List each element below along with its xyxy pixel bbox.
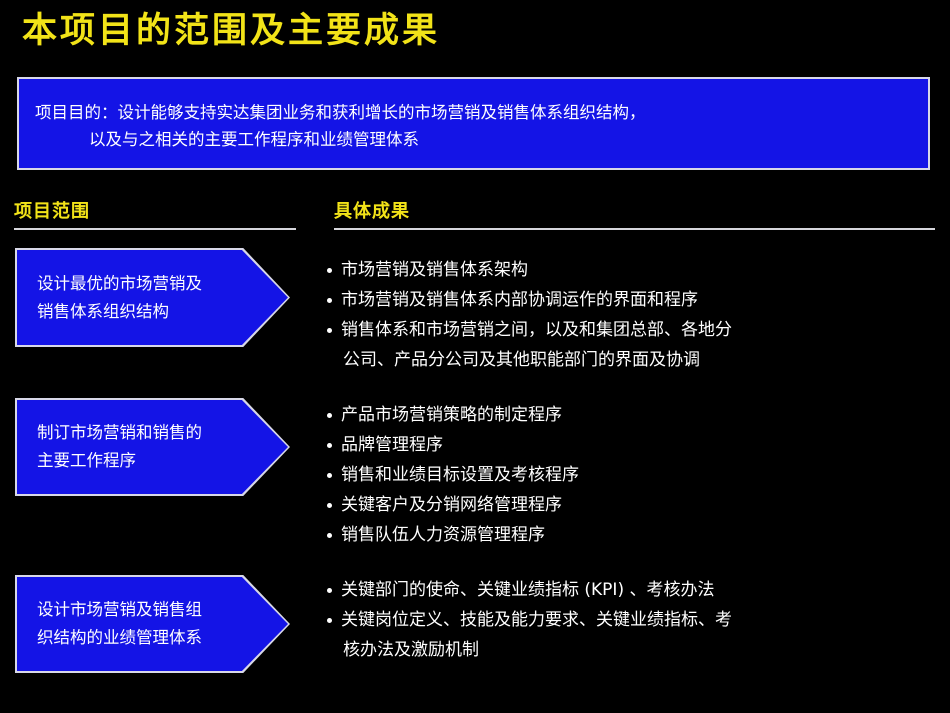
column-rule-left	[14, 228, 296, 230]
scope-arrow-3: 设计市场营销及销售组 织结构的业绩管理体系	[15, 575, 290, 673]
list-item: 关键岗位定义、技能及能力要求、关键业绩指标、考 核办法及激励机制	[325, 605, 937, 665]
scope-arrow-1-line-2: 销售体系组织结构	[37, 298, 247, 326]
outcome-text: 销售和业绩目标设置及考核程序	[341, 465, 579, 485]
outcome-text: 产品市场营销策略的制定程序	[341, 405, 562, 425]
scope-arrow-1: 设计最优的市场营销及 销售体系组织结构	[15, 248, 290, 347]
column-rule-right	[334, 228, 935, 230]
outcome-text: 关键客户及分销网络管理程序	[341, 495, 562, 515]
outcomes-list-1: 市场营销及销售体系架构 市场营销及销售体系内部协调运作的界面和程序 销售体系和市…	[325, 255, 937, 375]
scope-arrow-2-line-1: 制订市场营销和销售的	[37, 419, 247, 447]
outcomes-list-2: 产品市场营销策略的制定程序 品牌管理程序 销售和业绩目标设置及考核程序 关键客户…	[325, 400, 937, 550]
outcome-text-cont: 公司、产品分公司及其他职能部门的界面及协调	[341, 345, 937, 375]
list-item: 关键部门的使命、关键业绩指标 (KPI) 、考核办法	[325, 575, 937, 605]
scope-arrow-3-text: 设计市场营销及销售组 织结构的业绩管理体系	[37, 596, 247, 652]
scope-arrow-2: 制订市场营销和销售的 主要工作程序	[15, 398, 290, 496]
list-item: 市场营销及销售体系架构	[325, 255, 937, 285]
list-item: 销售和业绩目标设置及考核程序	[325, 460, 937, 490]
scope-arrow-3-line-1: 设计市场营销及销售组	[37, 596, 247, 624]
scope-arrow-2-text: 制订市场营销和销售的 主要工作程序	[37, 419, 247, 475]
page-title: 本项目的范围及主要成果	[22, 8, 440, 54]
outcome-text: 关键岗位定义、技能及能力要求、关键业绩指标、考	[341, 610, 732, 630]
purpose-line-1: 项目目的：设计能够支持实达集团业务和获利增长的市场营销及销售体系组织结构，	[35, 99, 646, 126]
slide-canvas: 本项目的范围及主要成果 项目目的：设计能够支持实达集团业务和获利增长的市场营销及…	[0, 0, 950, 713]
purpose-line-2: 以及与之相关的主要工作程序和业绩管理体系	[89, 126, 419, 153]
scope-arrow-1-text: 设计最优的市场营销及 销售体系组织结构	[37, 270, 247, 326]
scope-arrow-2-line-2: 主要工作程序	[37, 447, 247, 475]
outcomes-list-3: 关键部门的使命、关键业绩指标 (KPI) 、考核办法 关键岗位定义、技能及能力要…	[325, 575, 937, 665]
column-header-outcomes: 具体成果	[334, 201, 410, 223]
outcome-text: 关键部门的使命、关键业绩指标 (KPI) 、考核办法	[341, 580, 715, 600]
outcome-text: 销售体系和市场营销之间，以及和集团总部、各地分	[341, 320, 732, 340]
outcome-text: 市场营销及销售体系内部协调运作的界面和程序	[341, 290, 698, 310]
project-purpose-box: 项目目的：设计能够支持实达集团业务和获利增长的市场营销及销售体系组织结构， 以及…	[17, 77, 930, 170]
list-item: 产品市场营销策略的制定程序	[325, 400, 937, 430]
list-item: 市场营销及销售体系内部协调运作的界面和程序	[325, 285, 937, 315]
outcome-text: 品牌管理程序	[341, 435, 443, 455]
list-item: 销售队伍人力资源管理程序	[325, 520, 937, 550]
list-item: 品牌管理程序	[325, 430, 937, 460]
outcome-text-cont: 核办法及激励机制	[341, 635, 937, 665]
column-header-scope: 项目范围	[14, 201, 90, 223]
outcome-text: 销售队伍人力资源管理程序	[341, 525, 545, 545]
outcome-text: 市场营销及销售体系架构	[341, 260, 528, 280]
list-item: 关键客户及分销网络管理程序	[325, 490, 937, 520]
scope-arrow-1-line-1: 设计最优的市场营销及	[37, 270, 247, 298]
list-item: 销售体系和市场营销之间，以及和集团总部、各地分 公司、产品分公司及其他职能部门的…	[325, 315, 937, 375]
scope-arrow-3-line-2: 织结构的业绩管理体系	[37, 624, 247, 652]
